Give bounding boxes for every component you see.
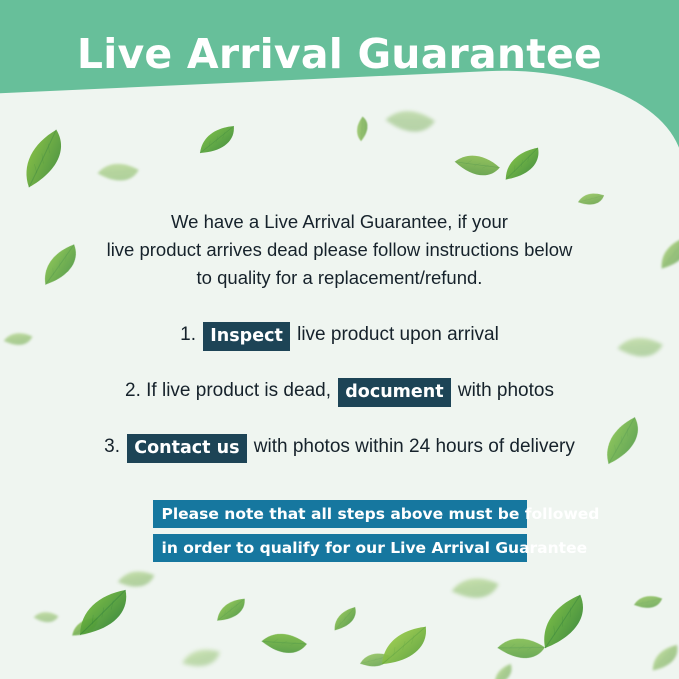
step-text-after: with photos	[458, 380, 554, 401]
step-text-after: live product upon arrival	[297, 324, 499, 345]
step-item: 2. If live product is dead, document wit…	[0, 376, 679, 414]
step-item: 1. Inspect live product upon arrival	[0, 320, 679, 358]
step-number: 2.	[125, 380, 141, 401]
steps-list: 1. Inspect live product upon arrival 2. …	[0, 320, 679, 488]
note-banner-group: Please note that all steps above must be…	[0, 500, 679, 568]
note-banner-line-2: in order to qualify for our Live Arrival…	[153, 534, 527, 562]
step-number: 1.	[180, 324, 196, 345]
intro-line-3: to quality for a replacement/refund.	[60, 264, 619, 292]
step-text-before: If live product is dead,	[146, 380, 331, 401]
intro-line-2: live product arrives dead please follow …	[60, 236, 619, 264]
page-title: Live Arrival Guarantee	[0, 30, 679, 78]
content-area: We have a Live Arrival Guarantee, if you…	[0, 0, 679, 679]
step-number: 3.	[104, 436, 120, 457]
intro-line-1: We have a Live Arrival Guarantee, if you…	[60, 208, 619, 236]
step-highlight-contact-us[interactable]: Contact us	[127, 434, 246, 463]
note-banner-line-1: Please note that all steps above must be…	[153, 500, 527, 528]
live-arrival-guarantee-poster: Live Arrival Guarantee We have a Live Ar…	[0, 0, 679, 679]
intro-paragraph: We have a Live Arrival Guarantee, if you…	[60, 208, 619, 292]
step-item: 3. Contact us with photos within 24 hour…	[0, 432, 679, 470]
step-highlight-document[interactable]: document	[338, 378, 450, 407]
step-text-after: with photos within 24 hours of delivery	[254, 436, 575, 457]
step-highlight-inspect[interactable]: Inspect	[203, 322, 290, 351]
